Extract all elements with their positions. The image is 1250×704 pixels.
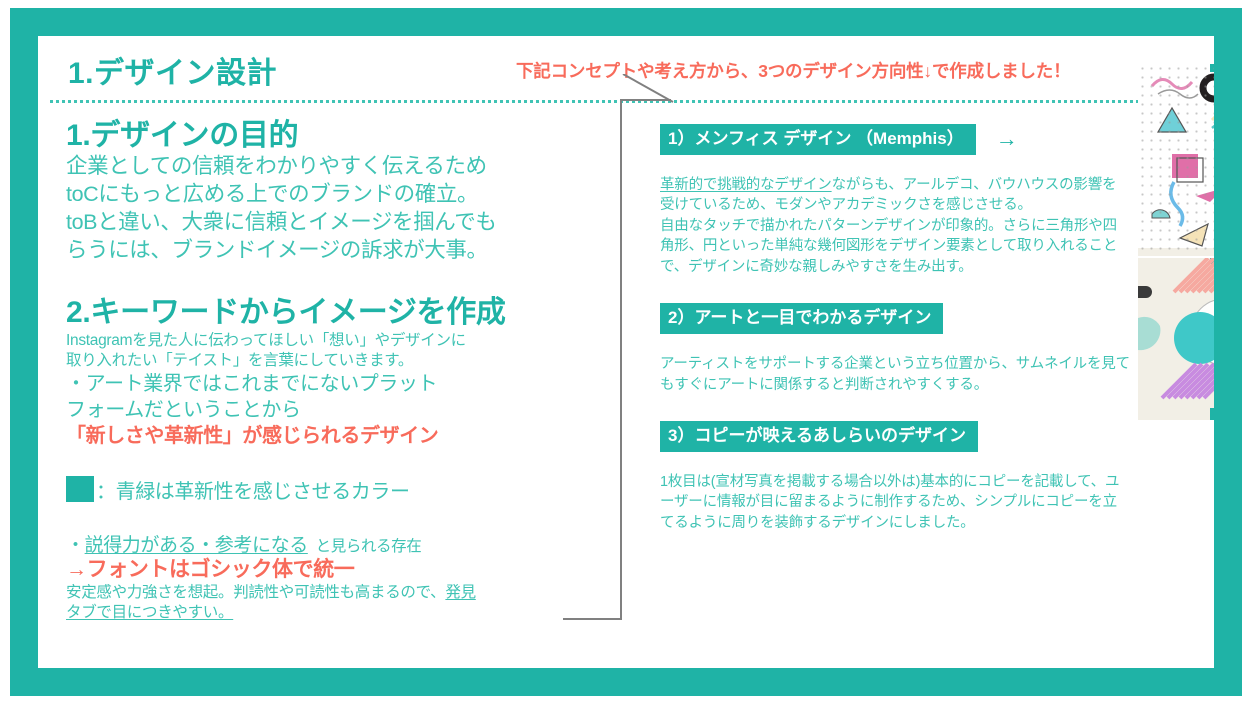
header-divider [50, 100, 1205, 103]
section-1-line-3: toBと違い、大衆に信頼とイメージを掴んでも [66, 209, 586, 237]
design-direction-2-heading: 2）アートと一目でわかるデザイン [660, 303, 943, 334]
section-2-bullet: ・アート業界ではこれまでにないプラット フォームだということから [66, 371, 586, 423]
color-note-text: ：青緑は革新性を感じさせるカラー [96, 475, 410, 504]
section-1-line-1: 企業としての信頼をわかりやすく伝えるため [66, 153, 586, 181]
page-title: 1.デザイン設計 [68, 48, 277, 92]
design-direction-1-para-2: 自由なタッチで描かれたパターンデザインが印象的。さらに三角形や四角形、円といった… [660, 216, 1130, 278]
font-note-detail-underline-1: 発見 [445, 584, 475, 601]
section-2-sub-line-1: Instagramを見た人に伝わってほしい「想い」やデザインに [66, 331, 586, 351]
design-direction-3: 3）コピーが映えるあしらいのデザイン 1枚目は(宣材写真を掲載する場合以外は)基… [660, 421, 1130, 533]
design-direction-1: 1）メンフィス デザイン （Memphis） → 革新的で挑戦的なデザインながら… [660, 124, 1130, 277]
section-2-heading: 2.キーワードからイメージを作成 [66, 295, 586, 330]
section-1-body: 企業としての信頼をわかりやすく伝えるため toCにもっと広める上でのブランドの確… [66, 153, 586, 265]
section-1: 1.デザインの目的 企業としての信頼をわかりやすく伝えるため toCにもっと広め… [66, 118, 586, 265]
section-2-sub: Instagramを見た人に伝わってほしい「想い」やデザインに 取り入れたい「テ… [66, 331, 586, 371]
font-note-lead: ・説得力がある・参考になる と見られる存在 [66, 530, 586, 557]
design-direction-2: 2）アートと一目でわかるデザイン アーティストをサポートする企業という立ち位置か… [660, 303, 1130, 395]
slide-frame: 1.デザイン設計 下記コンセプトや考え方から、3つのデザイン方向性↓で作成しまし… [10, 8, 1242, 696]
font-note-arrow-line: →フォントはゴシック体で統一 [66, 557, 586, 583]
dot-pattern-icon [1138, 64, 1214, 256]
section-2-bullet-line-2: フォームだということから [66, 397, 586, 423]
font-note-detail-head: 安定感や力強さを想起。判読性や可読性も高まるので、 [66, 584, 445, 601]
spacer [66, 449, 586, 475]
header-note: 下記コンセプトや考え方から、3つのデザイン方向性↓で作成しました！ [516, 58, 1070, 83]
section-2-emphasis: 「新しさや革新性」が感じられるデザイン [66, 423, 586, 449]
design-direction-3-body: 1枚目は(宣材写真を掲載する場合以外は)基本的にコピーを記載して、ユーザーに情報… [660, 472, 1130, 534]
design-direction-1-head-row: 1）メンフィス デザイン （Memphis） → [660, 124, 1130, 155]
right-column: 1）メンフィス デザイン （Memphis） → 革新的で挑戦的なデザインながら… [660, 124, 1130, 555]
section-1-heading: 1.デザインの目的 [66, 118, 586, 153]
font-note-detail: 安定感や力強さを想起。判読性や可読性も高まるので、発見タブで目につきやすい。 [66, 583, 586, 623]
font-note-tail: と見られる存在 [308, 538, 422, 555]
right-arrow-icon: → [996, 128, 1018, 150]
spacer [66, 265, 586, 295]
geometric-pattern-thumbnail [1138, 258, 1214, 420]
section-2: 2.キーワードからイメージを作成 Instagramを見た人に伝わってほしい「想… [66, 295, 586, 449]
section-2-sub-line-2: 取り入れたい「テイスト」を言葉にしていきます。 [66, 351, 586, 371]
color-note: ：青緑は革新性を感じさせるカラー [66, 475, 586, 504]
memphis-pattern-thumbnail [1138, 64, 1214, 256]
section-1-line-4: らうには、ブランドイメージの訴求が大事。 [66, 237, 586, 265]
design-direction-3-head-row: 3）コピーが映えるあしらいのデザイン [660, 421, 1130, 452]
font-note-bullet: ・ [66, 535, 85, 556]
design-direction-3-heading: 3）コピーが映えるあしらいのデザイン [660, 421, 978, 452]
geometric-shapes [1138, 258, 1214, 420]
design-direction-2-head-row: 2）アートと一目でわかるデザイン [660, 303, 1130, 334]
design-direction-1-underlined: 革新的で挑戦的なデザイン [660, 177, 832, 193]
font-note-detail-underline-2: タブで目につきやすい。 [66, 604, 233, 621]
section-2-bullet-line-1: ・アート業界ではこれまでにないプラット [66, 371, 586, 397]
design-direction-1-heading: 1）メンフィス デザイン （Memphis） [660, 124, 976, 155]
design-direction-1-body: 革新的で挑戦的なデザインながらも、アールデコ、バウハウスの影響を受けているため、… [660, 175, 1130, 278]
slide-content: 1.デザイン設計 下記コンセプトや考え方から、3つのデザイン方向性↓で作成しまし… [38, 36, 1214, 668]
design-direction-2-body: アーティストをサポートする企業という立ち位置から、サムネイルを見てもすぐにアート… [660, 354, 1130, 395]
font-note: ・説得力がある・参考になる と見られる存在 →フォントはゴシック体で統一 安定感… [66, 530, 586, 624]
spacer [66, 504, 586, 530]
font-note-underlined: 説得力がある・参考になる [85, 535, 308, 556]
section-1-line-2: toCにもっと広める上でのブランドの確立。 [66, 181, 586, 209]
left-column: 1.デザインの目的 企業としての信頼をわかりやすく伝えるため toCにもっと広め… [66, 118, 586, 623]
color-swatch-icon [66, 476, 94, 502]
slide-header: 1.デザイン設計 下記コンセプトや考え方から、3つのデザイン方向性↓で作成しまし… [38, 36, 1214, 108]
